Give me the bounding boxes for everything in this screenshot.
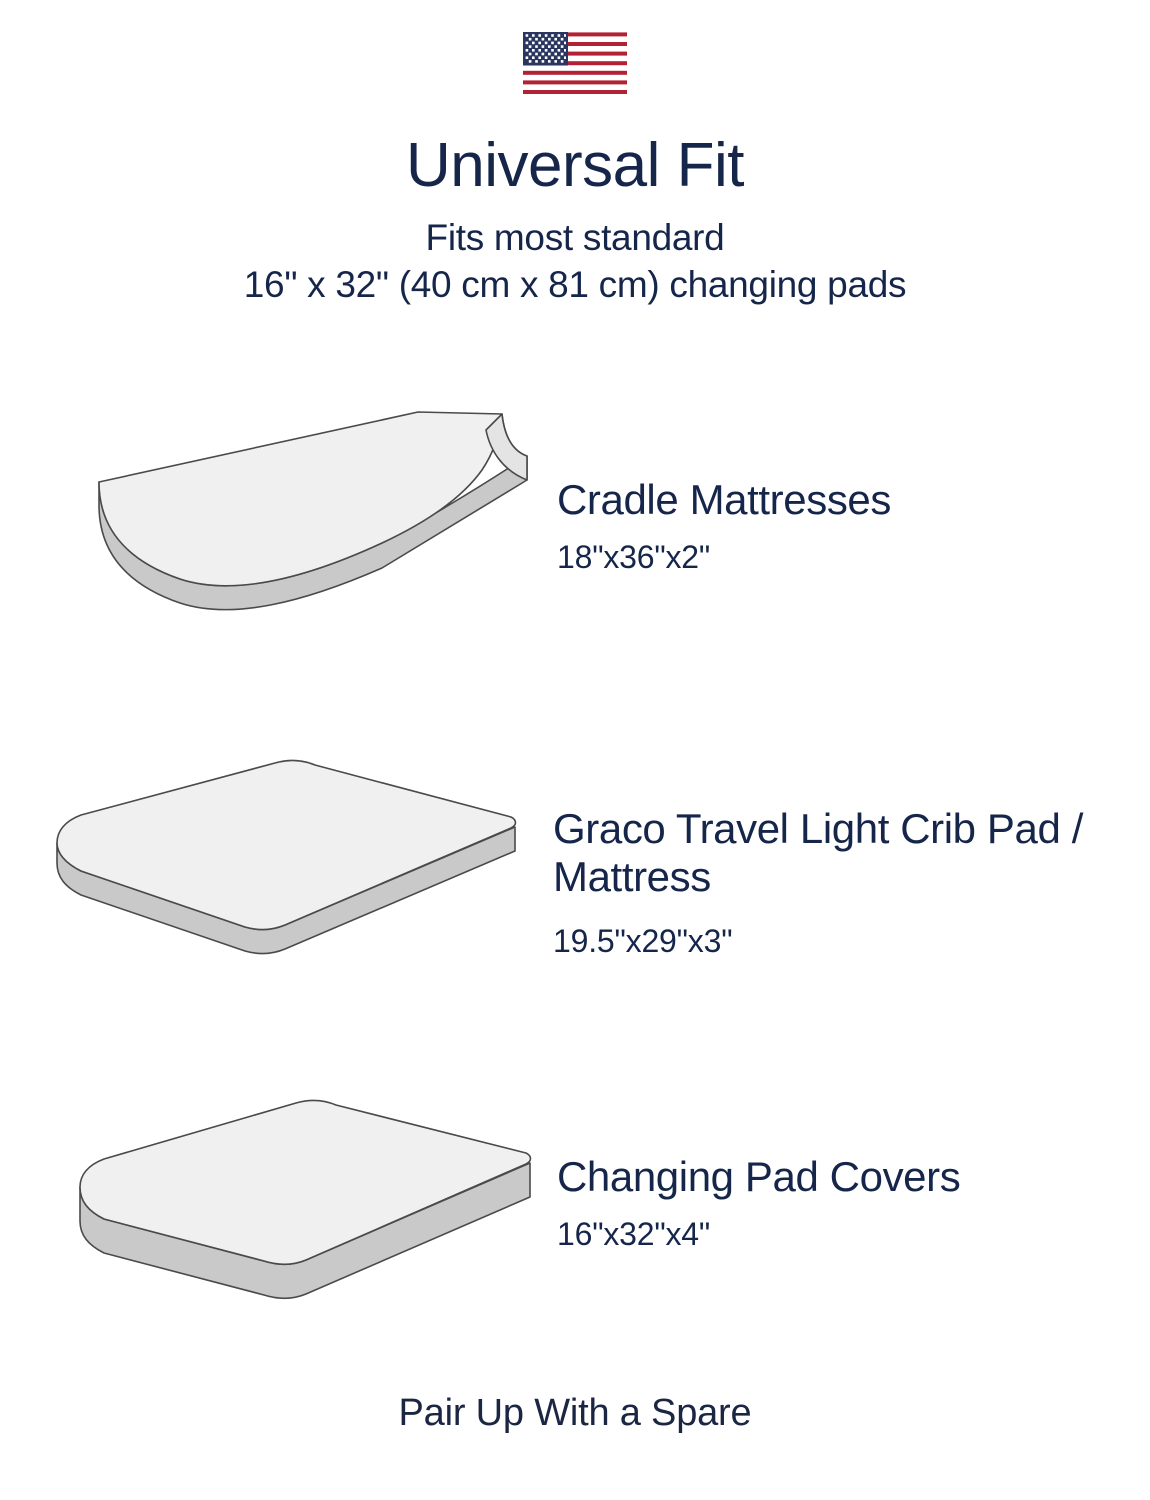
united-states-flag-icon — [523, 32, 627, 98]
footer-tagline: Pair Up With a Spare — [0, 1392, 1150, 1435]
product-row: Graco Travel Light Crib Pad / Mattress 1… — [0, 755, 1150, 970]
contoured-changing-pad-icon — [82, 398, 542, 613]
subtitle-line-1: Fits most standard — [0, 214, 1150, 261]
product-title: Graco Travel Light Crib Pad / Mattress — [553, 805, 1113, 902]
page-subtitle: Fits most standard 16" x 32" (40 cm x 81… — [0, 214, 1150, 309]
flag-container — [0, 32, 1150, 98]
product-illustration-thin-flat-mattress — [45, 755, 535, 955]
product-dimensions: 19.5"x29"x3" — [553, 922, 1113, 960]
thick-flat-mattress-icon — [68, 1095, 548, 1300]
product-row: Changing Pad Covers 16"x32"x4" — [0, 1095, 1150, 1310]
subtitle-line-2: 16" x 32" (40 cm x 81 cm) changing pads — [0, 261, 1150, 308]
product-dimensions: 18"x36"x2" — [557, 538, 891, 576]
header: Universal Fit Fits most standard 16" x 3… — [0, 133, 1150, 309]
page-title: Universal Fit — [0, 133, 1150, 200]
product-dimensions: 16"x32"x4" — [557, 1215, 960, 1253]
footer: Pair Up With a Spare — [0, 1392, 1150, 1435]
product-info: Cradle Mattresses 18"x36"x2" — [557, 476, 891, 577]
product-row: Cradle Mattresses 18"x36"x2" — [0, 398, 1150, 628]
product-title: Changing Pad Covers — [557, 1153, 960, 1201]
product-title: Cradle Mattresses — [557, 476, 891, 524]
product-illustration-contoured-changing-pad — [82, 398, 542, 613]
infographic-page: Universal Fit Fits most standard 16" x 3… — [0, 0, 1150, 1500]
thin-flat-mattress-icon — [45, 755, 535, 955]
product-info: Graco Travel Light Crib Pad / Mattress 1… — [553, 805, 1113, 960]
product-info: Changing Pad Covers 16"x32"x4" — [557, 1153, 960, 1254]
product-illustration-thick-flat-mattress — [68, 1095, 548, 1300]
